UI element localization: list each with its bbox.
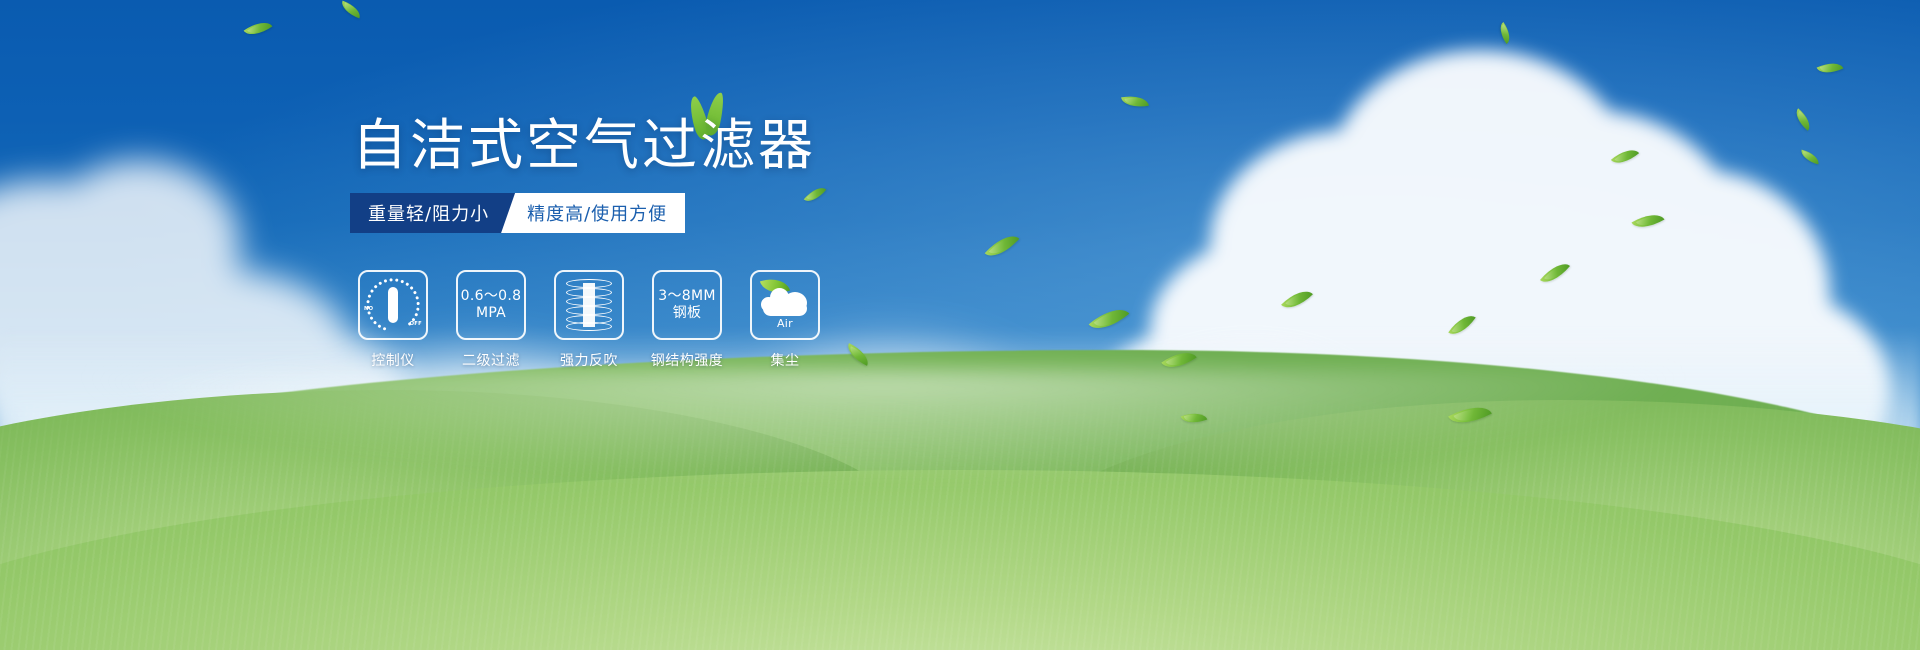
filter-spring-icon [566,279,612,331]
feature-caption: 钢结构强度 [651,350,724,370]
gauge-icon: NO OFF [365,279,421,331]
badge-high-precision-easy-use: 精度高/使用方便 [501,193,685,233]
feature-list: NO OFF 控制仪 0.6～0.8 MPA 二级过滤 [358,270,820,370]
feature-icon-box: NO OFF [358,270,428,340]
pressure-unit: MPA [461,305,522,322]
gauge-on-label: NO [364,306,373,312]
feature-caption: 强力反吹 [560,350,618,370]
steel-plate-text-icon: 3～8MM 钢板 [658,288,715,322]
feature-icon-box [554,270,624,340]
feature-caption: 控制仪 [371,350,415,370]
feature-item-two-stage-filter[interactable]: 0.6～0.8 MPA 二级过滤 [456,270,526,370]
feature-item-steel-strength[interactable]: 3～8MM 钢板 钢结构强度 [652,270,722,370]
air-label: Air [759,317,811,330]
gauge-off-label: OFF [410,321,422,327]
badge-lightweight-low-resistance: 重量轻/阻力小 [350,193,515,233]
steel-thickness: 3～8MM [658,288,715,304]
feature-icon-box: 3～8MM 钢板 [652,270,722,340]
badge-group: 重量轻/阻力小 精度高/使用方便 [350,193,685,233]
feature-icon-box: 0.6～0.8 MPA [456,270,526,340]
steel-material: 钢板 [658,305,715,322]
feature-item-dust-collection[interactable]: Air 集尘 [750,270,820,370]
feature-caption: 集尘 [771,350,800,370]
cloud-base [763,301,807,316]
pressure-range: 0.6～0.8 [461,288,522,304]
page-title: 自洁式空气过滤器 [352,118,816,173]
feature-item-controller[interactable]: NO OFF 控制仪 [358,270,428,370]
promo-banner: 自洁式空气过滤器 重量轻/阻力小 精度高/使用方便 [0,0,1920,650]
feature-caption: 二级过滤 [462,350,520,370]
banner-content: 自洁式空气过滤器 重量轻/阻力小 精度高/使用方便 [0,0,1920,650]
pressure-text-icon: 0.6～0.8 MPA [461,288,522,322]
gauge-needle [388,287,398,323]
feature-icon-box: Air [750,270,820,340]
air-cloud-icon: Air [759,281,811,329]
feature-item-powerful-backblow[interactable]: 强力反吹 [554,270,624,370]
